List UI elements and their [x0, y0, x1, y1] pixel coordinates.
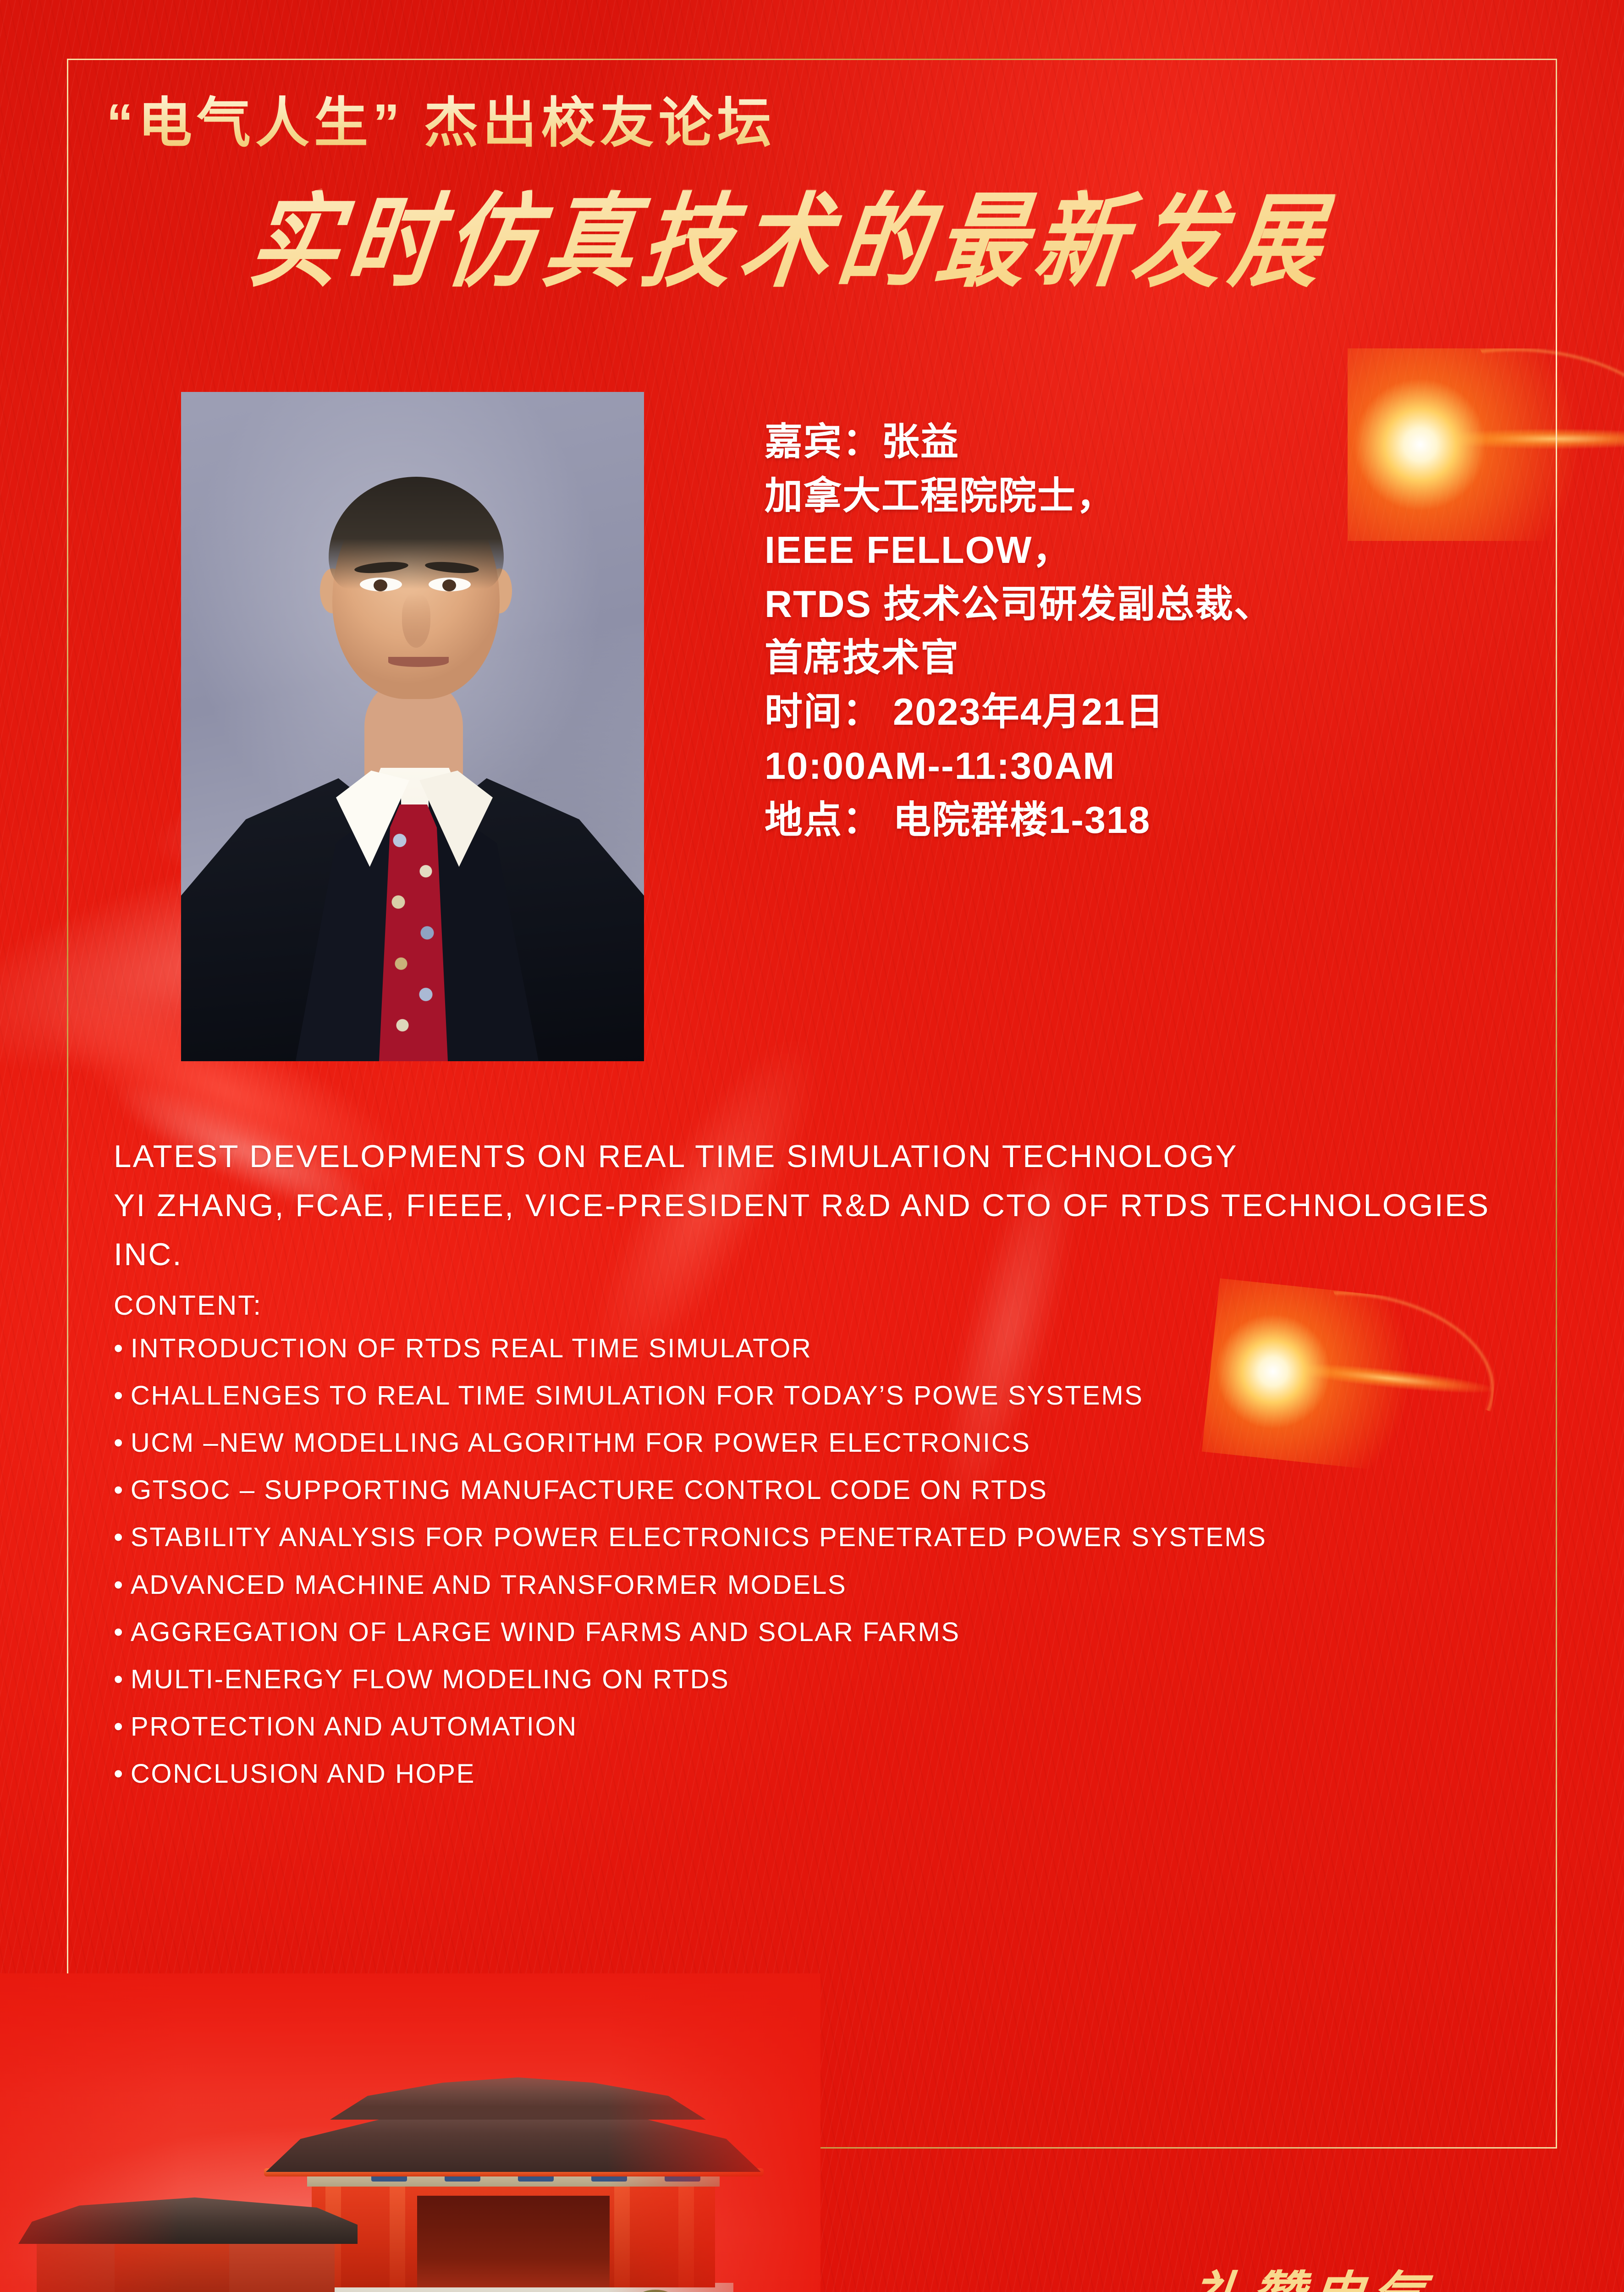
talk-title: LATEST DEVELOPMENTS ON REAL TIME SIMULAT… [114, 1132, 1544, 1181]
list-item-label: GTSOC – SUPPORTING MANUFACTURE CONTROL C… [131, 1475, 1048, 1505]
slogan-line-1: 礼赞电气 [1112, 2267, 1510, 2292]
event-location: 地点： 电院群楼1-318 [765, 793, 1553, 847]
event-poster: “电气人生” 杰出校友论坛 实时仿真技术的最新发展 嘉宾：张益 加拿大工程院院士… [0, 0, 1624, 2292]
list-item-label: PROTECTION AND AUTOMATION [131, 1712, 578, 1741]
bullet-dot-icon: • [114, 1760, 124, 1787]
bullet-dot-icon: • [114, 1477, 124, 1504]
list-item: •PROTECTION AND AUTOMATION [114, 1713, 1548, 1740]
bullet-dot-icon: • [114, 1429, 124, 1456]
bullet-dot-icon: • [114, 1713, 124, 1740]
list-item-label: AGGREGATION OF LARGE WIND FARMS AND SOLA… [131, 1617, 960, 1647]
speaker-name-line: 嘉宾：张益 [765, 415, 1553, 469]
list-item: •GTSOC – SUPPORTING MANUFACTURE CONTROL … [114, 1477, 1548, 1504]
speaker-portrait [181, 392, 644, 1061]
list-item: •UCM –NEW MODELLING ALGORITHM FOR POWER … [114, 1429, 1548, 1456]
list-item: •CHALLENGES TO REAL TIME SIMULATION FOR … [114, 1382, 1548, 1409]
list-item-label: ADVANCED MACHINE AND TRANSFORMER MODELS [131, 1570, 847, 1600]
list-item-label: INTRODUCTION OF RTDS REAL TIME SIMULATOR [131, 1333, 812, 1363]
speaker-affiliation-4: 首席技术官 [765, 631, 1553, 685]
bullet-dot-icon: • [114, 1524, 124, 1551]
anniversary-slogan: 礼赞电气 致敬115周年 [1115, 2267, 1507, 2292]
page-title: 实时仿真技术的最新发展 [244, 190, 1336, 292]
palace-architecture-illustration [0, 1973, 820, 2292]
content-bullet-list: •INTRODUCTION OF RTDS REAL TIME SIMULATO… [114, 1335, 1548, 1788]
list-item: •AGGREGATION OF LARGE WIND FARMS AND SOL… [114, 1619, 1548, 1646]
list-item-label: STABILITY ANALYSIS FOR POWER ELECTRONICS… [131, 1522, 1267, 1552]
speaker-affiliation-3: RTDS 技术公司研发副总裁、 [765, 577, 1553, 631]
list-item-label: CONCLUSION AND HOPE [131, 1759, 475, 1789]
bullet-dot-icon: • [114, 1382, 124, 1409]
event-time: 10:00AM--11:30AM [765, 739, 1553, 793]
bullet-dot-icon: • [114, 1571, 124, 1598]
speaker-bio: YI ZHANG, FCAE, FIEEE, VICE-PRESIDENT R&… [114, 1181, 1544, 1279]
list-item: •MULTI-ENERGY FLOW MODELING ON RTDS [114, 1666, 1548, 1693]
list-item: •ADVANCED MACHINE AND TRANSFORMER MODELS [114, 1571, 1548, 1598]
speaker-affiliation-2: IEEE FELLOW， [765, 523, 1553, 577]
event-date: 时间： 2023年4月21日 [765, 685, 1553, 739]
list-item: •CONCLUSION AND HOPE [114, 1760, 1548, 1787]
list-item-label: CHALLENGES TO REAL TIME SIMULATION FOR T… [131, 1381, 1144, 1410]
bullet-dot-icon: • [114, 1335, 124, 1362]
forum-kicker: “电气人生” 杰出校友论坛 [106, 94, 776, 154]
talk-details-block: LATEST DEVELOPMENTS ON REAL TIME SIMULAT… [114, 1132, 1548, 1807]
list-item-label: UCM –NEW MODELLING ALGORITHM FOR POWER E… [131, 1428, 1031, 1458]
list-item: •STABILITY ANALYSIS FOR POWER ELECTRONIC… [114, 1524, 1548, 1551]
speaker-info-block: 嘉宾：张益 加拿大工程院院士， IEEE FELLOW， RTDS 技术公司研发… [765, 415, 1553, 847]
content-label: CONTENT: [114, 1284, 1548, 1327]
speaker-affiliation-1: 加拿大工程院院士， [765, 469, 1553, 523]
list-item-label: MULTI-ENERGY FLOW MODELING ON RTDS [131, 1664, 730, 1694]
bullet-dot-icon: • [114, 1666, 124, 1693]
list-item: •INTRODUCTION OF RTDS REAL TIME SIMULATO… [114, 1335, 1548, 1362]
bullet-dot-icon: • [114, 1619, 124, 1646]
